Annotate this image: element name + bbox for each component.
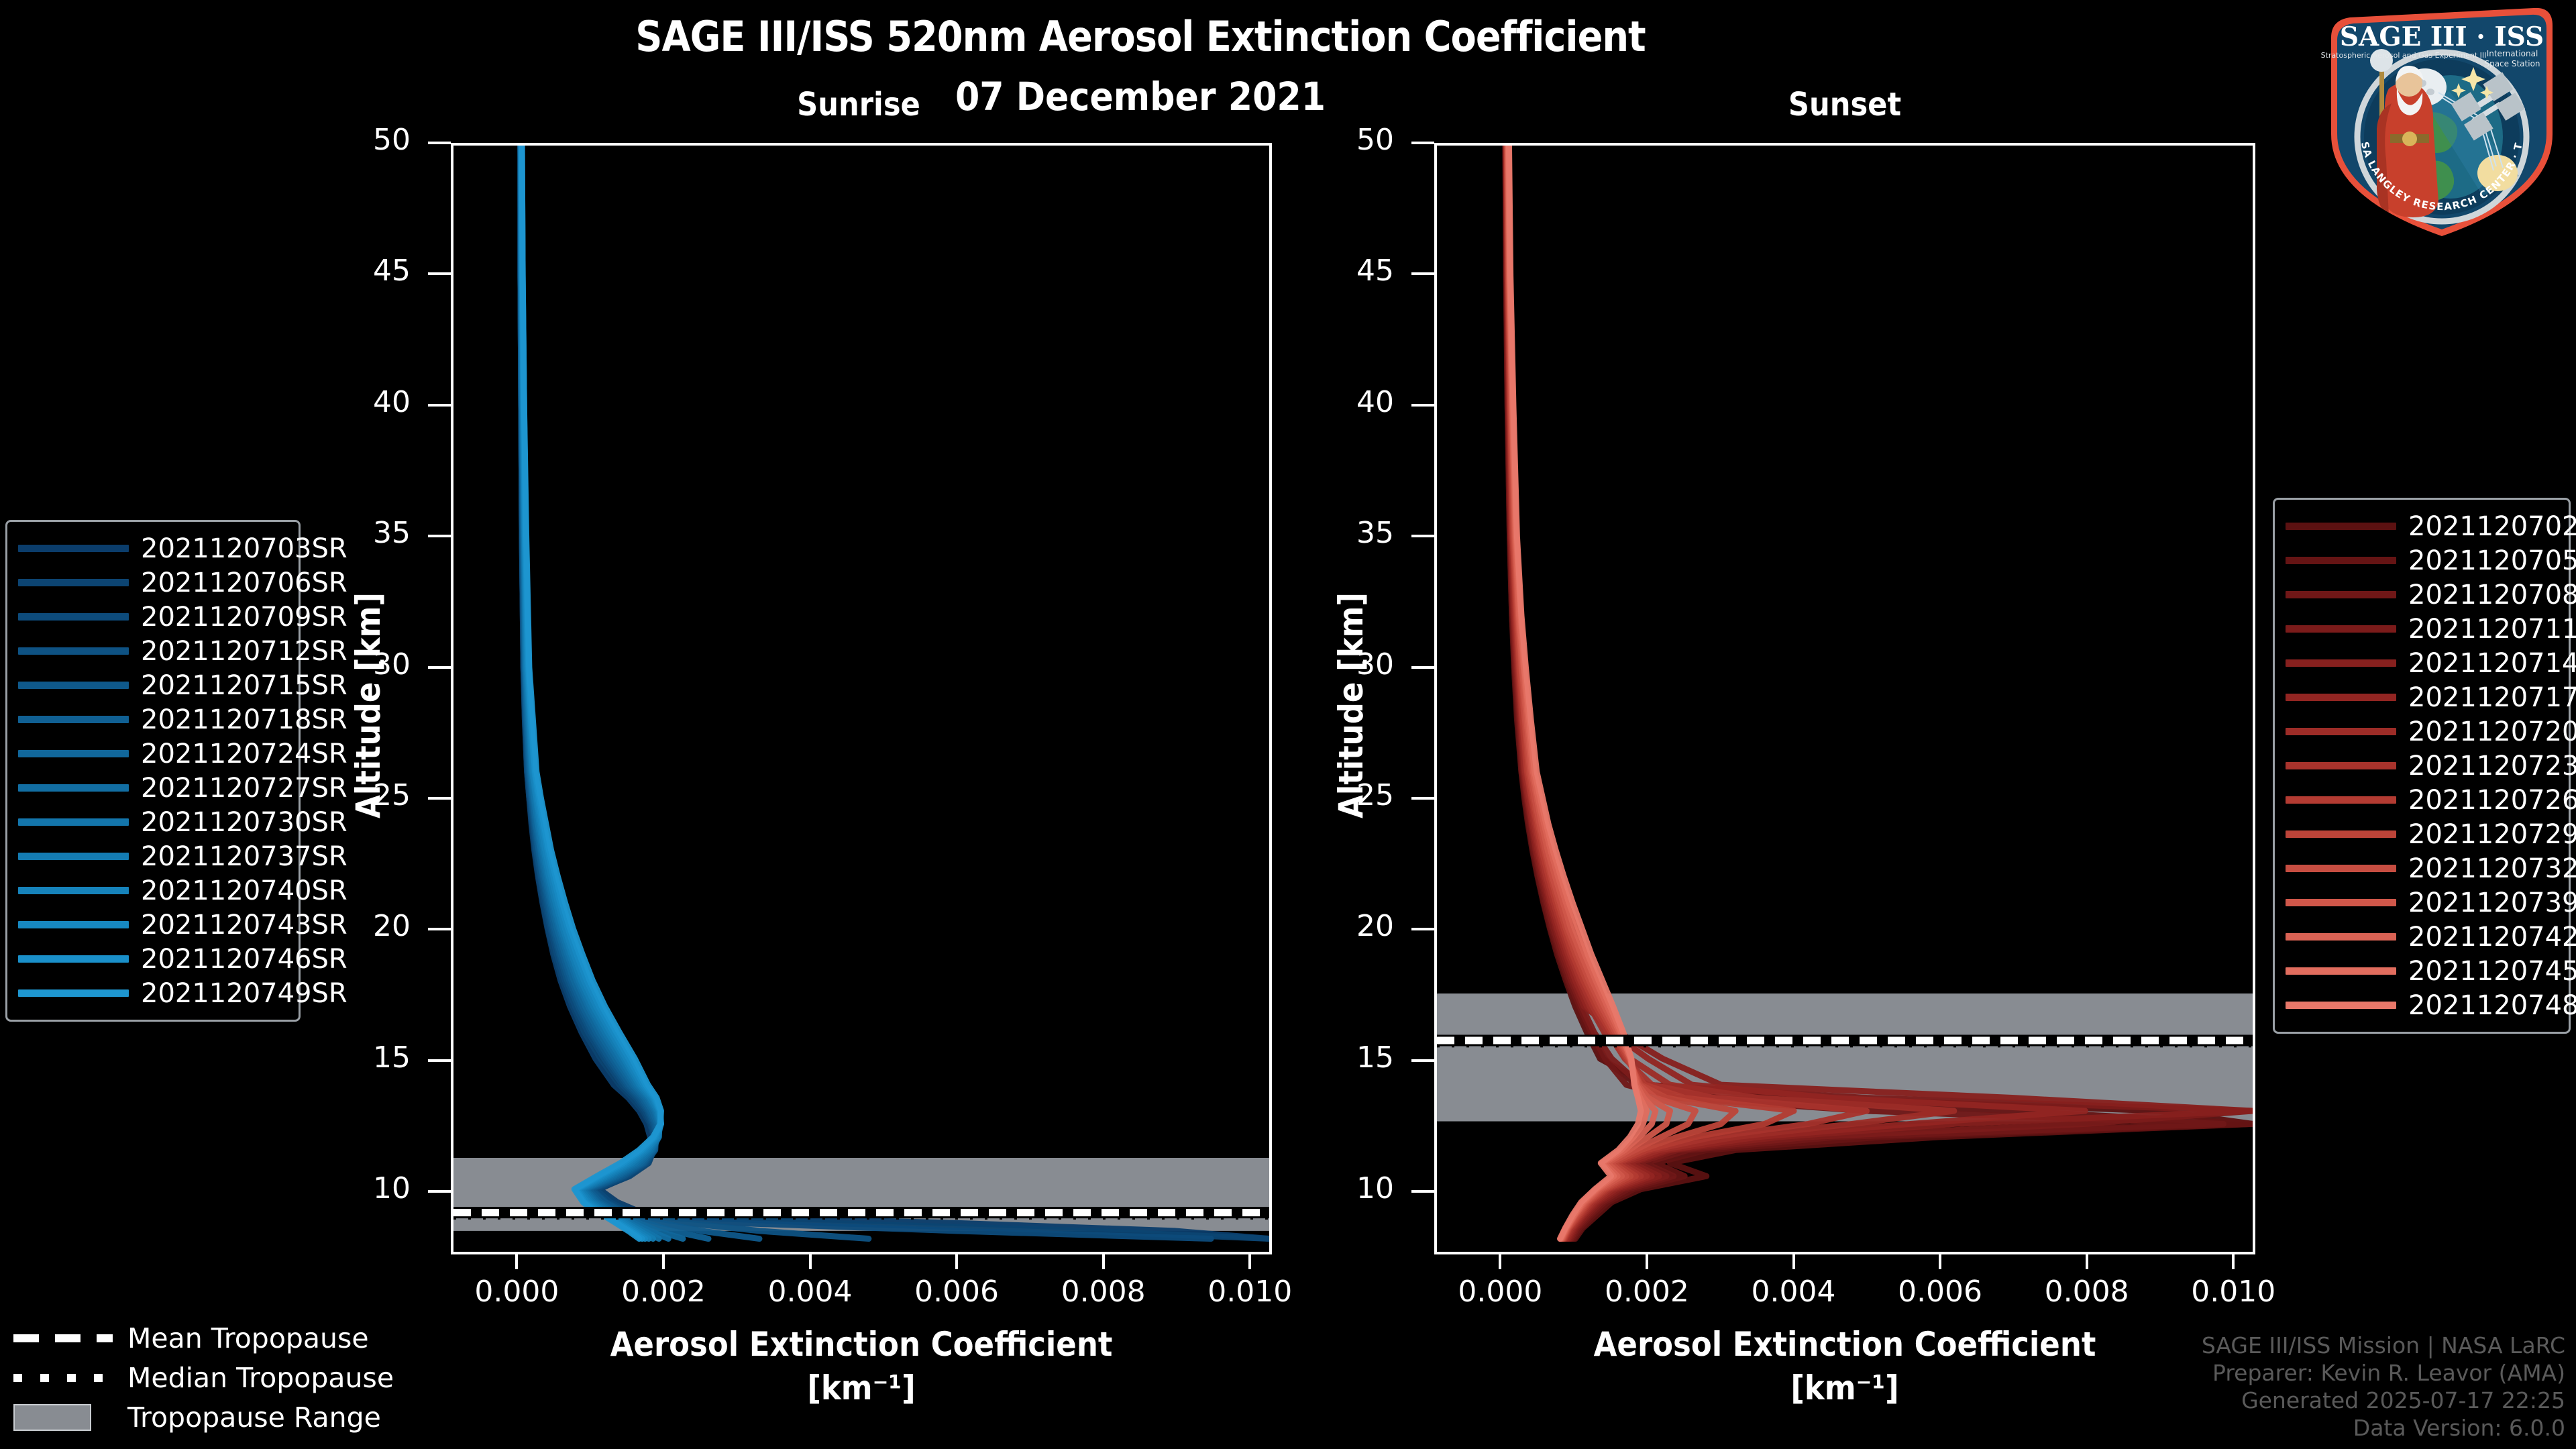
y-axis-tick bbox=[1411, 666, 1434, 669]
dashed-line-icon bbox=[13, 1328, 113, 1348]
y-axis-tick bbox=[1411, 1059, 1434, 1062]
sunset-legend-item[interactable]: 2021120726SS bbox=[2286, 783, 2558, 817]
x-axis-tick bbox=[662, 1254, 665, 1269]
y-axis-label: 20 bbox=[1293, 909, 1394, 943]
x-axis-tick bbox=[1248, 1254, 1251, 1269]
legend-event-label: 2021120708SS bbox=[2408, 580, 2576, 610]
y-axis-tick bbox=[1411, 928, 1434, 930]
sunrise-legend-item[interactable]: 2021120703SR bbox=[18, 531, 288, 566]
x-axis-tick bbox=[1792, 1254, 1795, 1269]
y-axis-label: 35 bbox=[1293, 516, 1394, 550]
x-axis-label: 0.010 bbox=[2159, 1275, 2307, 1309]
y-axis-label: 15 bbox=[1293, 1040, 1394, 1075]
legend-color-swatch bbox=[2286, 865, 2396, 872]
legend-color-swatch bbox=[18, 955, 129, 963]
legend-event-label: 2021120711SS bbox=[2408, 614, 2576, 645]
mission-patch-svg: SAGE III · ISS Stratospheric Aerosol and… bbox=[2318, 3, 2566, 241]
sunrise-legend-item[interactable]: 2021120740SR bbox=[18, 873, 288, 908]
legend-color-swatch bbox=[2286, 830, 2396, 838]
legend-color-swatch bbox=[2286, 591, 2396, 598]
legend-event-label: 2021120717SS bbox=[2408, 682, 2576, 713]
tropopause-legend-label: Median Tropopause bbox=[127, 1362, 394, 1394]
y-axis-label: 50 bbox=[1293, 123, 1394, 157]
legend-event-label: 2021120745SS bbox=[2408, 956, 2576, 987]
legend-color-swatch bbox=[18, 853, 129, 860]
legend-event-label: 2021120720SS bbox=[2408, 716, 2576, 747]
sunset-legend-item[interactable]: 2021120702SS bbox=[2286, 509, 2558, 543]
legend-event-label: 2021120732SS bbox=[2408, 853, 2576, 884]
legend-color-swatch bbox=[2286, 523, 2396, 530]
tropopause-legend-item: Mean Tropopause bbox=[13, 1318, 362, 1358]
logo-subtitle-left: Stratospheric Aerosol and Gas Experiment… bbox=[2321, 51, 2487, 60]
legend-event-label: 2021120709SR bbox=[141, 602, 347, 633]
date-subtitle: 07 December 2021 bbox=[0, 74, 2281, 119]
sunrise-legend-item[interactable]: 2021120709SR bbox=[18, 600, 288, 634]
legend-event-label: 2021120723SS bbox=[2408, 751, 2576, 782]
legend-color-swatch bbox=[18, 818, 129, 826]
y-axis-tick bbox=[1411, 404, 1434, 407]
sunrise-legend-item[interactable]: 2021120746SR bbox=[18, 942, 288, 976]
sunset-plot-area bbox=[1434, 143, 2255, 1254]
sunrise-legend-item[interactable]: 2021120724SR bbox=[18, 737, 288, 771]
y-axis-label: 45 bbox=[310, 254, 411, 288]
sunset-legend-item[interactable]: 2021120742SS bbox=[2286, 920, 2558, 954]
legend-event-label: 2021120739SS bbox=[2408, 888, 2576, 918]
credits-preparer: Preparer: Kevin R. Leavor (AMA) bbox=[2202, 1360, 2565, 1387]
legend-color-swatch bbox=[18, 887, 129, 894]
y-axis-tick bbox=[428, 928, 451, 930]
profile-line bbox=[521, 146, 869, 1239]
sunset-x-axis-title: Aerosol Extinction Coefficient bbox=[1434, 1325, 2255, 1364]
sunset-legend-item[interactable]: 2021120739SS bbox=[2286, 885, 2558, 920]
legend-color-swatch bbox=[2286, 899, 2396, 906]
legend-color-swatch bbox=[18, 750, 129, 757]
sunset-legend-item[interactable]: 2021120745SS bbox=[2286, 954, 2558, 988]
legend-color-swatch bbox=[18, 989, 129, 997]
y-axis-tick bbox=[428, 142, 451, 144]
y-axis-tick bbox=[428, 535, 451, 537]
sunrise-legend-item[interactable]: 2021120706SR bbox=[18, 566, 288, 600]
tropopause-legend-label: Mean Tropopause bbox=[127, 1322, 369, 1354]
sunrise-legend-item[interactable]: 2021120727SR bbox=[18, 771, 288, 805]
legend-event-label: 2021120746SR bbox=[141, 944, 347, 975]
legend-event-label: 2021120712SR bbox=[141, 636, 347, 667]
logo-subtitle-right-2: Space Station bbox=[2484, 59, 2540, 68]
y-axis-label: 40 bbox=[310, 385, 411, 419]
sunrise-legend-item[interactable]: 2021120715SR bbox=[18, 668, 288, 702]
legend-event-label: 2021120737SR bbox=[141, 841, 347, 872]
sunrise-legend-item[interactable]: 2021120749SR bbox=[18, 976, 288, 1010]
sunrise-legend-item[interactable]: 2021120718SR bbox=[18, 702, 288, 737]
x-axis-tick bbox=[1499, 1254, 1501, 1269]
y-axis-tick bbox=[428, 666, 451, 669]
legend-color-swatch bbox=[2286, 694, 2396, 701]
legend-event-label: 2021120729SS bbox=[2408, 819, 2576, 850]
tropopause-legend-label: Tropopause Range bbox=[127, 1401, 381, 1434]
tropopause-legend: Mean TropopauseMedian TropopauseTropopau… bbox=[13, 1318, 362, 1437]
legend-event-label: 2021120730SR bbox=[141, 807, 347, 838]
moon-crater-2 bbox=[2426, 89, 2434, 95]
legend-event-label: 2021120727SR bbox=[141, 773, 347, 804]
dotted-line-icon bbox=[13, 1368, 113, 1388]
profile-line bbox=[522, 146, 661, 1239]
sunrise-legend-item[interactable]: 2021120712SR bbox=[18, 634, 288, 668]
y-axis-label: 50 bbox=[310, 123, 411, 157]
x-axis-label: 0.008 bbox=[1030, 1275, 1177, 1309]
sunrise-legend-item[interactable]: 2021120737SR bbox=[18, 839, 288, 873]
x-axis-label: 0.002 bbox=[590, 1275, 737, 1309]
sunrise-legend[interactable]: 2021120703SR2021120706SR2021120709SR2021… bbox=[5, 520, 301, 1022]
legend-event-label: 2021120726SS bbox=[2408, 785, 2576, 816]
sunset-legend-item[interactable]: 2021120732SS bbox=[2286, 851, 2558, 885]
legend-color-swatch bbox=[2286, 933, 2396, 941]
legend-event-label: 2021120742SS bbox=[2408, 922, 2576, 953]
y-axis-label: 10 bbox=[1293, 1171, 1394, 1205]
y-axis-tick bbox=[428, 272, 451, 275]
sunrise-legend-item[interactable]: 2021120743SR bbox=[18, 908, 288, 942]
credits-data-version: Data Version: 6.0.0 bbox=[2202, 1415, 2565, 1442]
x-axis-label: 0.004 bbox=[737, 1275, 884, 1309]
legend-color-swatch bbox=[2286, 1002, 2396, 1009]
legend-color-swatch bbox=[18, 921, 129, 928]
x-axis-tick bbox=[955, 1254, 958, 1269]
y-axis-tick bbox=[428, 404, 451, 407]
x-axis-label: 0.008 bbox=[2013, 1275, 2161, 1309]
x-axis-tick bbox=[1939, 1254, 1941, 1269]
sunrise-plot-area bbox=[451, 143, 1272, 1254]
x-axis-tick bbox=[1102, 1254, 1105, 1269]
legend-color-swatch bbox=[2286, 796, 2396, 804]
y-axis-tick bbox=[428, 1190, 451, 1193]
sunset-legend-item[interactable]: 2021120708SS bbox=[2286, 578, 2558, 612]
y-axis-tick bbox=[1411, 797, 1434, 800]
sunset-legend-item[interactable]: 2021120729SS bbox=[2286, 817, 2558, 851]
legend-event-label: 2021120748SS bbox=[2408, 990, 2576, 1021]
legend-mark bbox=[13, 1334, 113, 1342]
sunrise-legend-item[interactable]: 2021120730SR bbox=[18, 805, 288, 839]
legend-color-swatch bbox=[18, 647, 129, 655]
page-title: SAGE III/ISS 520nm Aerosol Extinction Co… bbox=[0, 12, 2281, 61]
sunset-legend-item[interactable]: 2021120711SS bbox=[2286, 612, 2558, 646]
sunset-legend-item[interactable]: 2021120723SS bbox=[2286, 749, 2558, 783]
y-axis-label: 10 bbox=[310, 1171, 411, 1205]
sunrise-y-axis-title: Altitude [km] bbox=[349, 592, 388, 818]
legend-event-label: 2021120703SR bbox=[141, 533, 347, 564]
x-axis-tick bbox=[809, 1254, 812, 1269]
x-axis-label: 0.004 bbox=[1720, 1275, 1868, 1309]
sunrise-plot-canvas bbox=[453, 146, 1269, 1252]
credits-generated: Generated 2025-07-17 22:25 bbox=[2202, 1387, 2565, 1415]
y-axis-label: 45 bbox=[1293, 254, 1394, 288]
sunset-plot-canvas bbox=[1437, 146, 2253, 1252]
x-axis-label: 0.002 bbox=[1573, 1275, 1721, 1309]
sunset-x-axis-units: [km⁻¹] bbox=[1434, 1368, 2255, 1407]
x-axis-label: 0.006 bbox=[1866, 1275, 2014, 1309]
legend-event-label: 2021120715SR bbox=[141, 670, 347, 701]
legend-color-swatch bbox=[18, 613, 129, 621]
legend-color-swatch bbox=[18, 716, 129, 723]
credits-block: SAGE III/ISS Mission | NASA LaRC Prepare… bbox=[2202, 1332, 2565, 1442]
y-axis-tick bbox=[1411, 1190, 1434, 1193]
range-band-icon bbox=[13, 1407, 113, 1428]
sunset-panel-label: Sunset bbox=[1751, 86, 1939, 123]
x-axis-tick bbox=[2086, 1254, 2088, 1269]
logo-title: SAGE III · ISS bbox=[2340, 21, 2544, 52]
x-axis-tick bbox=[515, 1254, 518, 1269]
legend-event-label: 2021120743SR bbox=[141, 910, 347, 941]
y-axis-tick bbox=[1411, 535, 1434, 537]
sunset-legend-item[interactable]: 2021120705SS bbox=[2286, 543, 2558, 578]
legend-event-label: 2021120724SR bbox=[141, 739, 347, 769]
sunrise-panel-label: Sunrise bbox=[765, 86, 953, 123]
tropopause-legend-item: Median Tropopause bbox=[13, 1358, 362, 1397]
legend-color-swatch bbox=[2286, 728, 2396, 735]
profile-line bbox=[521, 146, 683, 1239]
x-axis-tick bbox=[1646, 1254, 1648, 1269]
legend-event-label: 2021120740SR bbox=[141, 875, 347, 906]
legend-color-swatch bbox=[18, 545, 129, 552]
logo-subtitle-right-1: International bbox=[2487, 49, 2538, 58]
y-axis-label: 40 bbox=[1293, 385, 1394, 419]
legend-mark bbox=[13, 1404, 91, 1431]
x-axis-label: 0.006 bbox=[883, 1275, 1030, 1309]
legend-color-swatch bbox=[2286, 659, 2396, 667]
legend-color-swatch bbox=[2286, 557, 2396, 564]
y-axis-tick bbox=[428, 1059, 451, 1062]
legend-color-swatch bbox=[2286, 762, 2396, 769]
tropopause-legend-item: Tropopause Range bbox=[13, 1397, 362, 1437]
x-axis-tick bbox=[2232, 1254, 2235, 1269]
sunset-legend-item[interactable]: 2021120717SS bbox=[2286, 680, 2558, 714]
x-axis-label: 0.000 bbox=[443, 1275, 590, 1309]
wizard-belt-buckle bbox=[2402, 131, 2417, 146]
legend-event-label: 2021120702SS bbox=[2408, 511, 2576, 542]
sunrise-x-axis-units: [km⁻¹] bbox=[451, 1368, 1272, 1407]
y-axis-label: 15 bbox=[310, 1040, 411, 1075]
legend-event-label: 2021120714SS bbox=[2408, 648, 2576, 679]
sunrise-x-axis-title: Aerosol Extinction Coefficient bbox=[451, 1325, 1272, 1364]
legend-event-label: 2021120706SR bbox=[141, 568, 347, 598]
legend-event-label: 2021120718SR bbox=[141, 704, 347, 735]
x-axis-label: 0.000 bbox=[1426, 1275, 1574, 1309]
y-axis-tick bbox=[428, 797, 451, 800]
legend-event-label: 2021120705SS bbox=[2408, 545, 2576, 576]
y-axis-tick bbox=[1411, 272, 1434, 275]
legend-color-swatch bbox=[2286, 967, 2396, 975]
y-axis-tick bbox=[1411, 142, 1434, 144]
sunset-legend-item[interactable]: 2021120714SS bbox=[2286, 646, 2558, 680]
sunset-legend-item[interactable]: 2021120720SS bbox=[2286, 714, 2558, 749]
sunset-legend-item[interactable]: 2021120748SS bbox=[2286, 988, 2558, 1022]
credits-mission: SAGE III/ISS Mission | NASA LaRC bbox=[2202, 1332, 2565, 1360]
sunset-legend[interactable]: 2021120702SS2021120705SS2021120708SS2021… bbox=[2273, 498, 2571, 1034]
legend-color-swatch bbox=[18, 579, 129, 586]
legend-color-swatch bbox=[18, 682, 129, 689]
legend-event-label: 2021120749SR bbox=[141, 978, 347, 1009]
x-axis-label: 0.010 bbox=[1176, 1275, 1324, 1309]
legend-mark bbox=[13, 1374, 113, 1382]
sage-iii-iss-mission-patch-logo: SAGE III · ISS Stratospheric Aerosol and… bbox=[2318, 3, 2566, 241]
legend-color-swatch bbox=[2286, 625, 2396, 633]
sunset-y-axis-title: Altitude [km] bbox=[1332, 592, 1371, 818]
legend-color-swatch bbox=[18, 784, 129, 792]
